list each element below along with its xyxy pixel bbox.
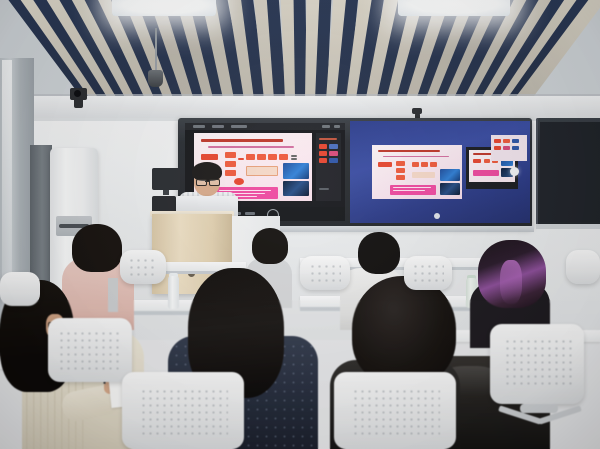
ceiling-light-right xyxy=(398,0,510,16)
slide-box xyxy=(225,170,236,176)
slide-equals xyxy=(291,158,297,160)
display-left-sidepanel[interactable] xyxy=(316,133,341,201)
wall-camera-left-lens xyxy=(74,90,81,97)
presenter-glasses-right xyxy=(209,179,220,186)
water-bottle-white xyxy=(168,276,179,309)
slide-box xyxy=(378,162,392,167)
ceiling-sensor-icon xyxy=(148,70,163,87)
presenter-glasses-bridge xyxy=(205,181,209,182)
slide-box xyxy=(396,168,405,173)
display-right-surface[interactable] xyxy=(540,122,600,222)
chair-perforation xyxy=(352,388,440,438)
wall-camera-left-bracket xyxy=(74,98,83,108)
panel-box xyxy=(329,151,338,156)
student-dark-curly-hair xyxy=(352,276,456,386)
student-left-edge-torso xyxy=(108,278,118,312)
thumbnail-box xyxy=(512,139,519,143)
thumbnail-box xyxy=(494,146,501,150)
slide-image-network xyxy=(440,169,460,181)
slide-highlight-block xyxy=(473,170,499,176)
slide-center xyxy=(372,145,462,199)
display-center-indicator-dot xyxy=(510,167,519,176)
toolbar-item[interactable] xyxy=(322,125,330,128)
side-monitor-stand xyxy=(163,190,169,195)
slide-box xyxy=(246,154,255,160)
side-monitor xyxy=(152,168,180,190)
chair-perforation xyxy=(412,263,444,283)
display-center[interactable] xyxy=(350,121,530,223)
slide-image-tech xyxy=(440,183,460,195)
chair-perforation xyxy=(309,263,341,283)
panel-box xyxy=(319,144,327,149)
panel-box xyxy=(329,144,338,149)
slide-note-box xyxy=(412,172,435,178)
slide-box xyxy=(225,161,236,167)
classroom-chair[interactable] xyxy=(0,272,40,306)
panel-footer xyxy=(319,188,329,190)
toolbar-item[interactable] xyxy=(193,125,205,128)
slide-highlight-line xyxy=(393,190,425,191)
ceiling-light-left xyxy=(112,0,216,16)
panel-box xyxy=(329,158,338,163)
display-center-home-dot[interactable] xyxy=(434,213,440,219)
classroom-photo xyxy=(0,0,600,449)
slide-box xyxy=(396,175,405,180)
slide-subtitle-rule xyxy=(383,156,449,157)
chair-perforation xyxy=(58,330,120,372)
toolbar-item[interactable] xyxy=(231,125,247,128)
slide-center-node xyxy=(234,178,244,185)
slide-box xyxy=(257,154,266,160)
classroom-chair[interactable] xyxy=(566,250,600,284)
panel-box xyxy=(319,158,327,163)
slide-box xyxy=(421,162,428,167)
slide-title-rule xyxy=(378,150,440,152)
slide-title-rule xyxy=(201,139,283,142)
thumbnail-box xyxy=(494,139,501,143)
toolbar-item[interactable] xyxy=(334,125,340,128)
slide-image-network xyxy=(283,163,309,179)
slide-box xyxy=(484,159,490,163)
display-left-toolbar[interactable] xyxy=(185,123,345,130)
panel-title xyxy=(319,138,337,140)
slide-box xyxy=(201,154,218,160)
chair-base xyxy=(520,404,558,413)
thumbnail-box xyxy=(503,146,510,150)
slide-equals xyxy=(291,155,297,157)
student-white-hoodie-hair xyxy=(358,232,400,274)
status-text xyxy=(245,212,255,215)
slide-highlight-line xyxy=(393,187,431,188)
display-right-tray xyxy=(536,224,600,229)
toolbar-item[interactable] xyxy=(212,125,224,128)
slide-arrow xyxy=(238,158,244,160)
thumbnail-box xyxy=(503,139,510,143)
chair-perforation xyxy=(504,338,572,388)
student-short-dark-hair xyxy=(252,228,288,264)
slide-box xyxy=(396,161,405,166)
thumbnail-box xyxy=(512,146,519,150)
slide-note-box xyxy=(246,166,278,176)
slide-box xyxy=(225,152,236,158)
slide-box xyxy=(473,159,481,163)
slide-subtitle-rule xyxy=(208,146,294,148)
student-pink-jacket-hair xyxy=(72,224,122,272)
slide-box xyxy=(279,154,288,160)
slide-box xyxy=(412,162,419,167)
chair-perforation xyxy=(128,257,158,277)
panel-box xyxy=(319,151,327,156)
chair-perforation xyxy=(140,388,228,438)
slide-image-tech xyxy=(283,181,309,196)
student-purple-streak-highlight xyxy=(500,260,522,304)
projector-mount-rod xyxy=(155,28,157,74)
slide-box xyxy=(430,162,437,167)
slide-box xyxy=(268,154,277,160)
